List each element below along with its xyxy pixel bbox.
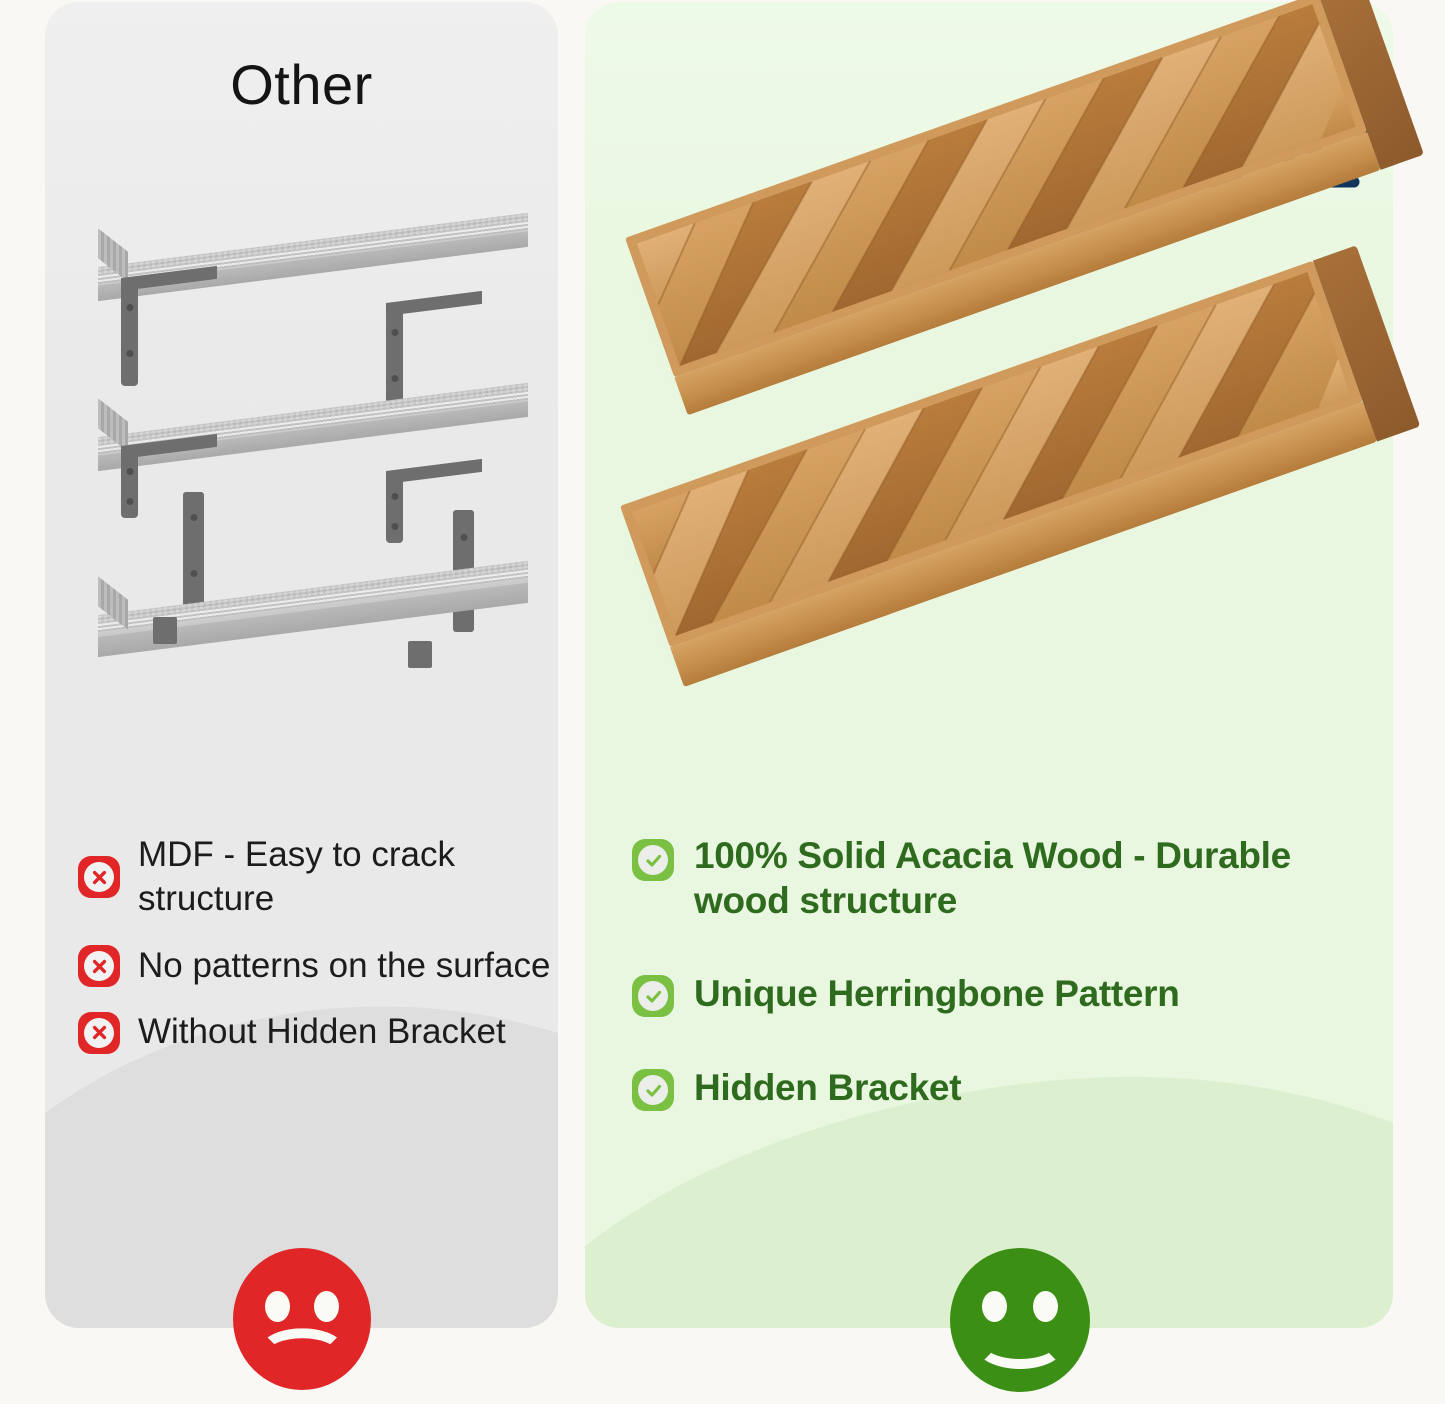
frown-mouth: [258, 1328, 346, 1376]
list-item-label: Without Hidden Bracket: [138, 1010, 506, 1054]
page-title-other: Other: [45, 52, 558, 117]
x-circle-icon: [78, 856, 120, 898]
list-item: MDF - Easy to crack structure: [78, 833, 558, 922]
check-circle-icon: [632, 975, 674, 1017]
list-item-label: No patterns on the surface: [138, 944, 550, 988]
list-item-label: Unique Herringbone Pattern: [694, 971, 1180, 1016]
list-item-label: Hidden Bracket: [694, 1065, 961, 1110]
exposed-bracket-leg: [121, 452, 138, 518]
x-circle-icon: [78, 1012, 120, 1054]
other-product-panel: [45, 2, 558, 1328]
comparison-infographic: Other: [0, 0, 1445, 1404]
exposed-bracket-leg: [386, 311, 403, 411]
bracket-tab: [408, 641, 432, 668]
other-feature-list: MDF - Easy to crack structure No pattern…: [78, 833, 558, 1077]
eye: [982, 1291, 1007, 1322]
exposed-bracket-leg: [386, 477, 403, 543]
bracket-tab: [153, 617, 177, 644]
eye: [1033, 1291, 1058, 1322]
list-item: Unique Herringbone Pattern: [632, 971, 1372, 1017]
check-circle-icon: [632, 839, 674, 881]
x-circle-icon: [78, 945, 120, 987]
eye: [265, 1291, 290, 1322]
upright-bracket-left: [183, 492, 204, 609]
list-item-label: MDF - Easy to crack structure: [138, 833, 558, 922]
list-item-label: 100% Solid Acacia Wood - Durable wood st…: [694, 833, 1372, 923]
smile-mouth: [975, 1320, 1065, 1369]
eye: [314, 1291, 339, 1322]
list-item: Without Hidden Bracket: [78, 1010, 558, 1054]
check-circle-icon: [632, 1069, 674, 1111]
happy-face-icon: [950, 1248, 1090, 1392]
sad-face-icon: [233, 1248, 371, 1390]
list-item: No patterns on the surface: [78, 944, 558, 988]
list-item: 100% Solid Acacia Wood - Durable wood st…: [632, 833, 1372, 923]
howizz-feature-list: 100% Solid Acacia Wood - Durable wood st…: [632, 833, 1372, 1159]
list-item: Hidden Bracket: [632, 1065, 1372, 1111]
exposed-bracket-leg: [121, 286, 138, 386]
